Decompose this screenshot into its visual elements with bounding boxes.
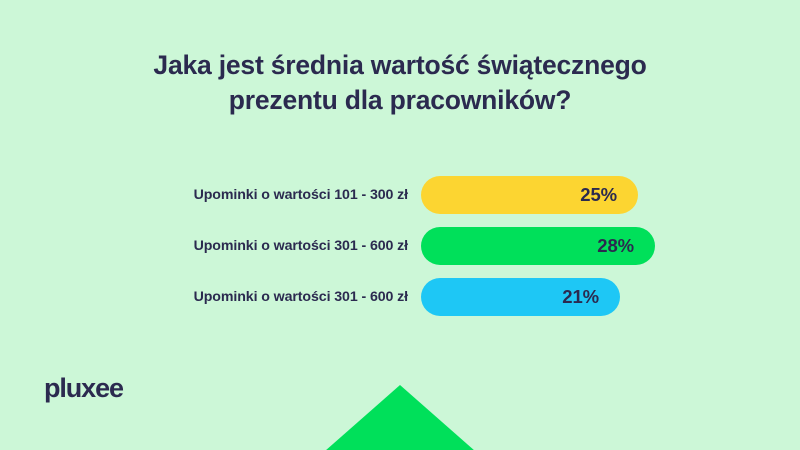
bar-row: Upominki o wartości 301 - 600 zł 21%: [0, 278, 800, 316]
bar-track: 25%: [421, 176, 638, 214]
infographic-canvas: Jaka jest średnia wartość świątecznego p…: [0, 0, 800, 450]
bar-value-label: 25%: [580, 176, 617, 214]
bar-track: 21%: [421, 278, 620, 316]
bar-category-label: Upominki o wartości 301 - 600 zł: [194, 227, 408, 265]
page-title-line-1: Jaka jest średnia wartość świątecznego: [0, 48, 800, 83]
bar-category-label: Upominki o wartości 101 - 300 zł: [194, 176, 408, 214]
bar-fill-green: 28%: [421, 227, 655, 265]
bar-fill-cyan: 21%: [421, 278, 620, 316]
triangle-decoration-icon: [325, 385, 475, 450]
bar-row: Upominki o wartości 301 - 600 zł 28%: [0, 227, 800, 265]
page-title-line-2: prezentu dla pracowników?: [0, 83, 800, 118]
pluxee-logo: pluxee: [44, 372, 123, 404]
bar-fill-yellow: 25%: [421, 176, 638, 214]
bar-value-label: 28%: [597, 227, 634, 265]
bar-row: Upominki o wartości 101 - 300 zł 25%: [0, 176, 800, 214]
page-title: Jaka jest średnia wartość świątecznego p…: [0, 48, 800, 118]
bar-chart: Upominki o wartości 101 - 300 zł 25% Upo…: [0, 176, 800, 321]
bar-value-label: 21%: [562, 278, 599, 316]
bar-category-label: Upominki o wartości 301 - 600 zł: [194, 278, 408, 316]
bar-track: 28%: [421, 227, 655, 265]
